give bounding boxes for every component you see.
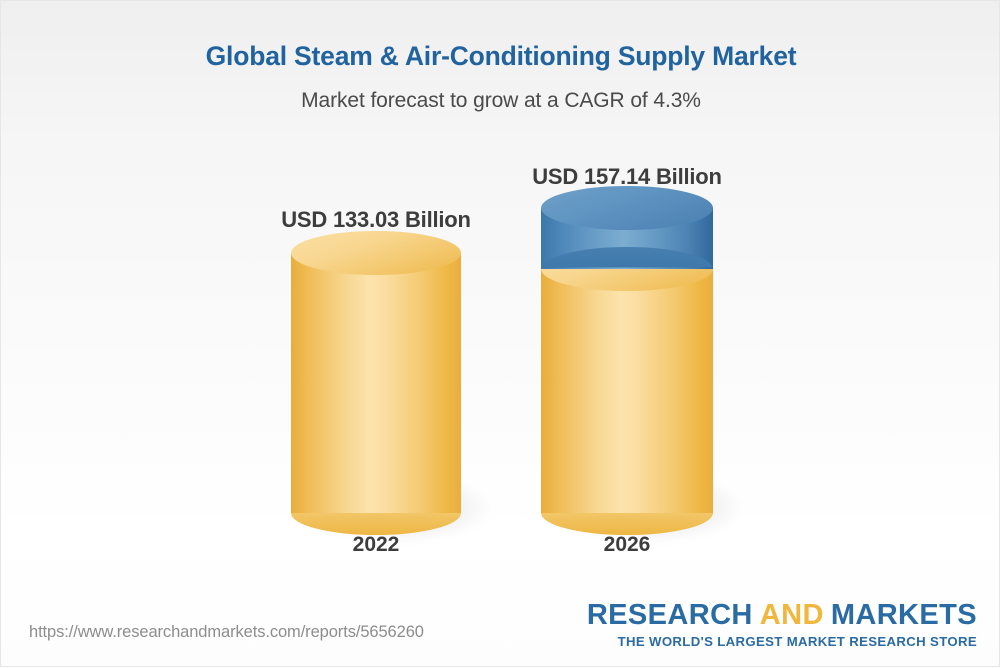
cylinder-bar-chart: USD 133.03 Billion 2022 USD 157.14 Billi…	[1, 1, 1000, 668]
bar-value-label-2022: USD 133.03 Billion	[269, 207, 483, 233]
logo-word-and: AND	[760, 599, 824, 631]
logo-wordmark: RESEARCHANDMARKETS	[587, 601, 977, 630]
logo-word-markets: MARKETS	[831, 599, 977, 631]
logo-word-research: RESEARCH	[587, 599, 753, 631]
research-and-markets-logo[interactable]: RESEARCHANDMARKETS THE WORLD'S LARGEST M…	[587, 601, 977, 648]
logo-tagline: THE WORLD'S LARGEST MARKET RESEARCH STOR…	[587, 635, 977, 648]
bar-cap-2022	[291, 231, 461, 275]
bar-cap-2026	[541, 186, 713, 230]
bar-value-label-2026: USD 157.14 Billion	[519, 164, 735, 190]
bar-category-label-2026: 2026	[541, 533, 713, 557]
bar-category-label-2022: 2022	[291, 533, 461, 557]
bar-body-lower-2022	[291, 253, 461, 513]
bar-body-base-fill-2026	[541, 269, 713, 513]
source-url[interactable]: https://www.researchandmarkets.com/repor…	[29, 623, 424, 642]
chart-canvas: Global Steam & Air-Conditioning Supply M…	[0, 0, 1000, 667]
